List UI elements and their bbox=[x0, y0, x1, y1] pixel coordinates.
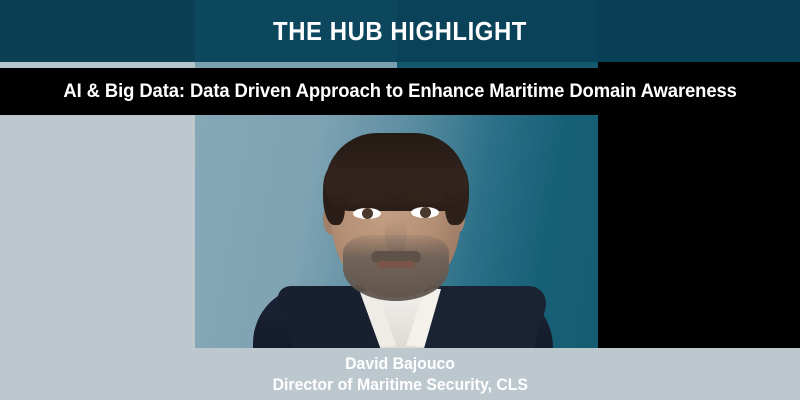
body-area bbox=[0, 115, 800, 348]
slide-canvas: THE HUB HIGHLIGHT AI & Big Data: Data Dr… bbox=[0, 0, 800, 400]
speaker-photo bbox=[195, 115, 598, 348]
right-color-panel bbox=[598, 115, 800, 348]
portrait-iris-left bbox=[362, 208, 373, 219]
speaker-name: David Bajouco bbox=[345, 354, 455, 374]
page-title: THE HUB HIGHLIGHT bbox=[32, 0, 768, 62]
speaker-footer: David Bajouco Director of Maritime Secur… bbox=[0, 348, 800, 400]
portrait-lapel-right bbox=[424, 286, 552, 348]
portrait-beard bbox=[343, 235, 449, 301]
speaker-role: Director of Maritime Security, CLS bbox=[272, 374, 527, 395]
portrait-mouth bbox=[377, 261, 415, 268]
left-color-panel bbox=[0, 115, 195, 348]
subtitle-band: AI & Big Data: Data Driven Approach to E… bbox=[0, 68, 800, 115]
portrait-iris-right bbox=[420, 207, 431, 218]
session-subtitle: AI & Big Data: Data Driven Approach to E… bbox=[63, 81, 736, 103]
